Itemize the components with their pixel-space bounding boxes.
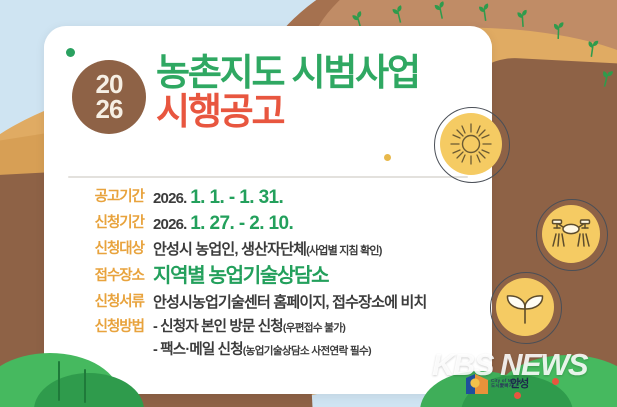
year-badge: 20 26: [72, 60, 146, 134]
field-sprout-icon: [552, 22, 566, 39]
row-text: 안성시 농업인, 생산자단체: [153, 241, 306, 258]
method-note: (우편접수 불가): [283, 322, 345, 334]
row-label: 신청서류: [68, 291, 144, 314]
row-label: 신청방법: [68, 316, 144, 339]
row-label: 접수장소: [68, 265, 144, 288]
page-title: 농촌지도 시범사업: [156, 54, 419, 91]
row-label: 신청대상: [68, 238, 144, 261]
row-value: 안성시 농업인, 생산자단체(사업별 지침 확인): [153, 238, 382, 263]
city-name: 안성: [510, 375, 528, 391]
field-sprout-icon: [585, 39, 600, 58]
row-value: 지역별 농업기술상담소: [153, 265, 328, 289]
row-note: (사업별 지침 확인): [306, 245, 381, 257]
header-divider: [68, 176, 468, 178]
city-emblem-icon: [466, 374, 488, 394]
bush-stem: [84, 369, 86, 403]
page-subtitle: 시행공고: [156, 93, 419, 132]
info-row-submission-place: 접수장소 지역별 농업기술상담소: [68, 265, 488, 289]
poster-root: 20 26 농촌지도 시범사업 시행공고 공고기간 2026. 1. 1. - …: [0, 0, 617, 407]
row-date: 1. 27. - 2. 10.: [190, 213, 293, 234]
bush-stem: [58, 361, 60, 401]
row-text: 안성시농업기술센터 홈페이지, 접수장소에 비치: [153, 294, 426, 311]
row-year: 2026.: [153, 216, 187, 233]
row-value: - 신청자 본인 방문 신청(우편접수 불가) - 팩스·메일 신청(농업기술상…: [153, 316, 371, 362]
info-row-notice-period: 공고기간 2026. 1. 1. - 1. 31.: [68, 186, 488, 210]
field-sprout-icon: [515, 10, 529, 28]
card-header: 20 26 농촌지도 시범사업 시행공고: [44, 52, 492, 164]
method-text: - 팩스·메일 신청: [153, 342, 243, 358]
info-row-eligibility: 신청대상 안성시 농업인, 생산자단체(사업별 지침 확인): [68, 238, 488, 263]
row-value: 안성시농업기술센터 홈페이지, 접수장소에 비치: [153, 291, 426, 314]
info-row-application-period: 신청기간 2026. 1. 27. - 2. 10.: [68, 212, 488, 236]
drone-icon: [542, 205, 600, 263]
info-row-documents: 신청서류 안성시농업기술센터 홈페이지, 접수장소에 비치: [68, 291, 488, 314]
sprout-icon: [496, 278, 554, 336]
method-line: - 팩스·메일 신청(농업기술상담소 사전연락 필수): [153, 339, 371, 362]
row-value: 2026. 1. 27. - 2. 10.: [153, 212, 293, 236]
field-sprout-icon: [477, 3, 492, 22]
announcement-card: 20 26 농촌지도 시범사업 시행공고 공고기간 2026. 1. 1. - …: [44, 26, 492, 394]
method-line: - 신청자 본인 방문 신청(우편접수 불가): [153, 316, 371, 339]
row-text: 지역별 농업기술상담소: [153, 265, 328, 287]
title-block: 농촌지도 시범사업 시행공고: [156, 54, 419, 132]
sun-icon: [440, 113, 502, 175]
row-value: 2026. 1. 1. - 1. 31.: [153, 186, 283, 210]
row-label: 공고기간: [68, 186, 144, 209]
row-year: 2026.: [153, 190, 187, 207]
year-badge-line2: 26: [96, 97, 123, 122]
info-rows: 공고기간 2026. 1. 1. - 1. 31. 신청기간 2026. 1. …: [68, 186, 488, 364]
card-wavy-top-edge: [44, 26, 492, 52]
method-text: - 신청자 본인 방문 신청: [153, 319, 283, 335]
info-row-application-method: 신청방법 - 신청자 본인 방문 신청(우편접수 불가) - 팩스·메일 신청(…: [68, 316, 488, 362]
method-note: (농업기술상담소 사전연락 필수): [243, 345, 371, 357]
row-label: 신청기간: [68, 212, 144, 235]
row-date: 1. 1. - 1. 31.: [190, 187, 283, 208]
